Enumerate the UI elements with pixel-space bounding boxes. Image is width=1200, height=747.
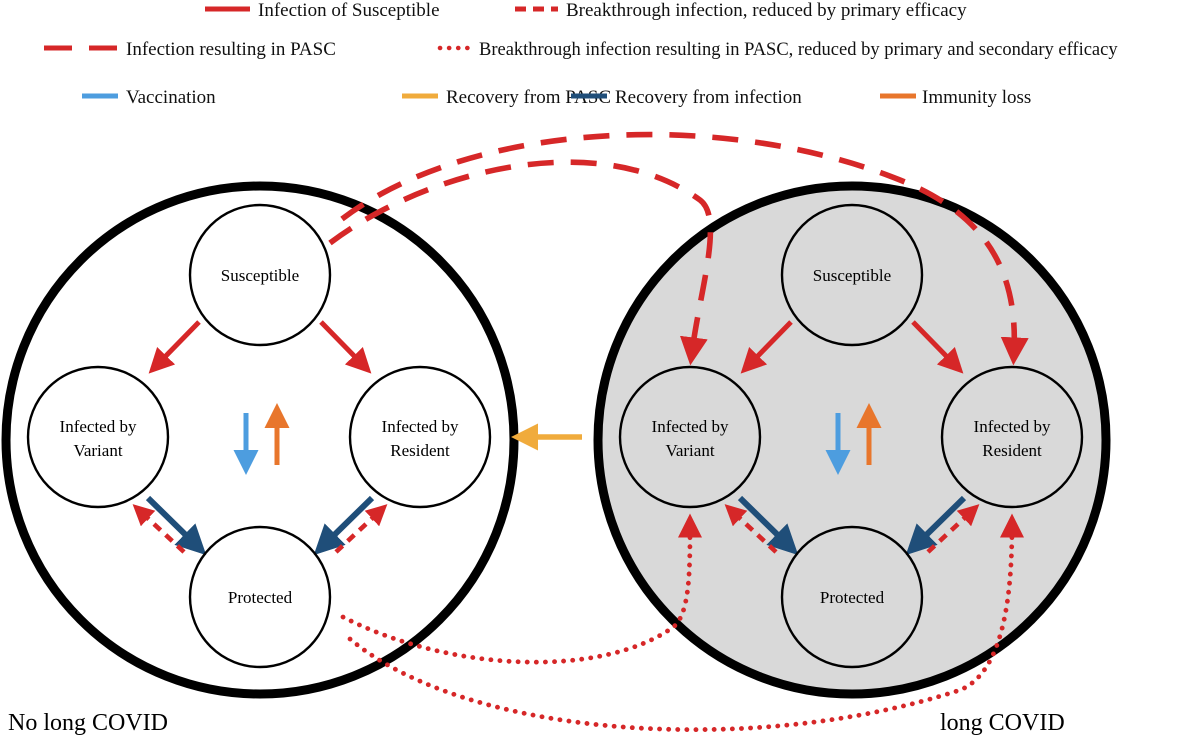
legend-item-immunity-loss: Immunity loss (880, 87, 1031, 108)
compartment-label: Protected (820, 588, 885, 607)
legend-label: Breakthrough infection, reduced by prima… (566, 0, 967, 21)
legend-item-vaccination: Vaccination (82, 87, 216, 108)
legend-item-breakthrough-infection: Breakthrough infection, reduced by prima… (515, 0, 967, 21)
legend-row-3: Vaccination Recovery from PASC Recovery … (82, 87, 1031, 108)
compartment-label-line2: Resident (982, 441, 1042, 460)
legend-item-breakthrough-infection-pasc: Breakthrough infection resulting in PASC… (440, 40, 1118, 60)
compartment-label: Susceptible (813, 266, 891, 285)
legend: Infection of Susceptible Breakthrough in… (44, 0, 1118, 108)
legend-row-1: Infection of Susceptible Breakthrough in… (205, 0, 967, 21)
compartment-label-line2: Variant (73, 441, 122, 460)
legend-row-2: Infection resulting in PASC Breakthrough… (44, 39, 1118, 60)
group-boundary-circle (598, 186, 1106, 694)
compartment-label-line1: Infected by (382, 417, 459, 436)
compartment-label-line2: Variant (665, 441, 714, 460)
compartment-label: Protected (228, 588, 293, 607)
figure-canvas: Infection of Susceptible Breakthrough in… (0, 0, 1200, 747)
legend-item-infection-of-susceptible: Infection of Susceptible (205, 0, 440, 21)
compartment-label-line1: Infected by (974, 417, 1051, 436)
compartment-label-line1: Infected by (60, 417, 137, 436)
group-boundary-circle (6, 186, 514, 694)
group-label-long-covid: long COVID (940, 710, 1065, 736)
legend-label: Recovery from infection (615, 87, 802, 108)
group-label-no-long-covid: No long COVID (8, 710, 168, 736)
legend-label: Infection of Susceptible (258, 0, 440, 21)
compartment-label-line1: Infected by (652, 417, 729, 436)
model-diagram: Infection of Susceptible Breakthrough in… (0, 0, 1200, 747)
compartment-label: Susceptible (221, 266, 299, 285)
group-no-long-covid: Susceptible Infected by Variant Infected… (6, 186, 514, 736)
legend-label: Breakthrough infection resulting in PASC… (479, 40, 1118, 60)
group-long-covid: Susceptible Infected by Variant Infected… (598, 186, 1106, 736)
legend-label: Infection resulting in PASC (126, 39, 336, 60)
legend-item-infection-resulting-in-pasc: Infection resulting in PASC (44, 39, 336, 60)
compartment-label-line2: Resident (390, 441, 450, 460)
legend-label: Vaccination (126, 87, 216, 108)
legend-label: Immunity loss (922, 87, 1031, 108)
